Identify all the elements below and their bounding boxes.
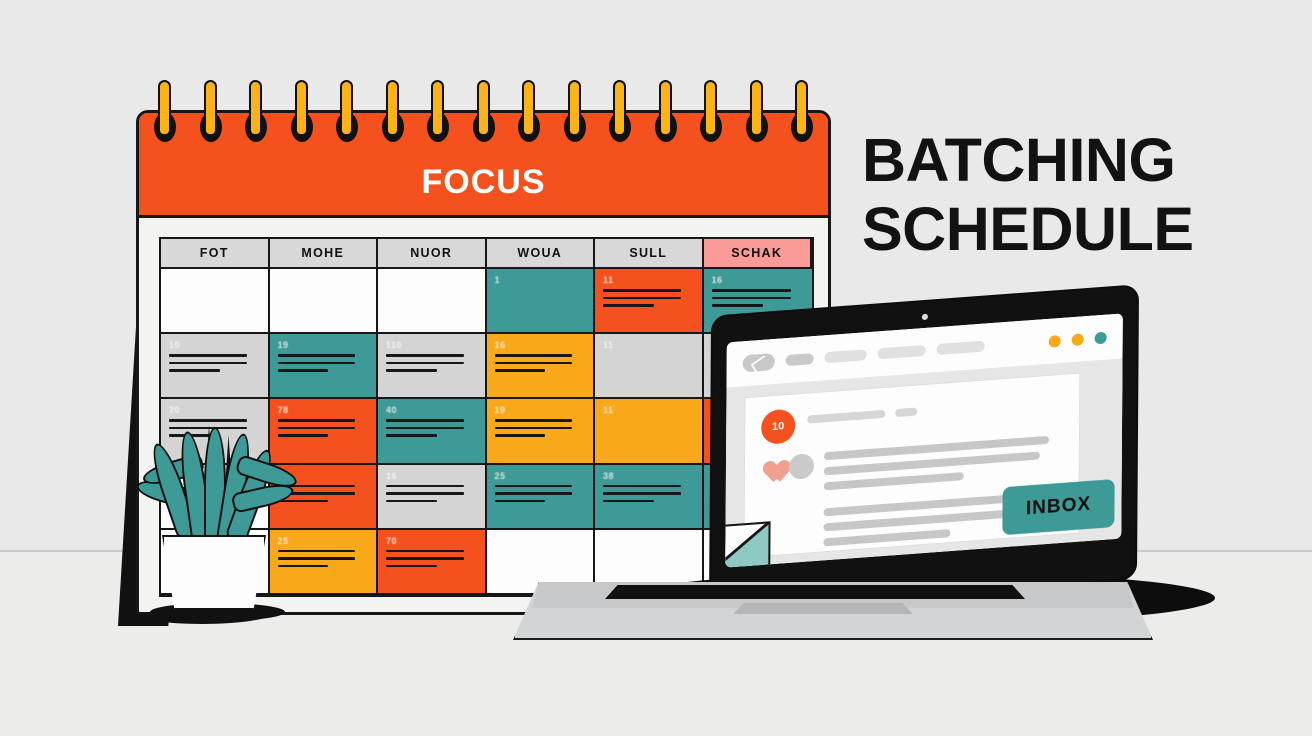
spiral-ring: [655, 80, 677, 142]
spiral-wire: [386, 80, 399, 136]
agave-plant: [140, 425, 300, 610]
toolbar-pill-3[interactable]: [878, 345, 926, 360]
screen-content: 10: [725, 313, 1123, 567]
spiral-ring: [564, 80, 586, 142]
calendar-entry-line: [386, 557, 464, 560]
calendar-day-number: [278, 275, 369, 285]
laptop-keyboard[interactable]: [605, 585, 1025, 599]
spiral-wire: [477, 80, 490, 136]
day-header-sull: SULL: [595, 239, 704, 269]
mail-row: [788, 554, 1050, 568]
calendar-entry-line: [386, 492, 464, 495]
mail-row: [807, 401, 1007, 424]
calendar-entry-line: [386, 485, 464, 488]
calendar-day-number: [386, 275, 477, 285]
toolbar-dot-2[interactable]: [1072, 333, 1084, 346]
spiral-ring: [200, 80, 222, 142]
spiral-ring: [518, 80, 540, 142]
inbox-badge[interactable]: INBOX: [1002, 479, 1114, 535]
spiral-ring: [700, 80, 722, 142]
mail-subject-line: [807, 410, 885, 424]
toolbar-pill-4[interactable]: [937, 341, 985, 356]
calendar-entry-line: [169, 419, 247, 422]
calendar-entry-line: [386, 362, 464, 365]
calendar-entry-line: [278, 362, 356, 365]
spiral-wire: [568, 80, 581, 136]
notification-badge[interactable]: 10: [761, 408, 795, 445]
calendar-entry-line: [386, 500, 437, 503]
spiral-wire: [795, 80, 808, 136]
calendar-entry-line: [712, 297, 792, 300]
calendar-entry-line: [603, 297, 681, 300]
calendar-day-number: 20: [169, 405, 260, 415]
title-line-1: BATCHING: [862, 126, 1282, 195]
calendar-entry-lines: [386, 485, 477, 503]
spiral-wire: [522, 80, 535, 136]
calendar-entry-line: [278, 419, 356, 422]
calendar-entry-line: [386, 550, 464, 553]
spiral-ring: [336, 80, 358, 142]
calendar-entry-line: [603, 289, 681, 292]
mail-line: [823, 562, 1041, 567]
calendar-day-number: 11: [603, 275, 694, 285]
calendar-entry-line: [278, 369, 329, 372]
calendar-day-number: 10: [169, 340, 260, 350]
calendar-entry-lines: [278, 354, 369, 372]
envelope-icon: [725, 521, 770, 567]
toolbar-dot-1[interactable]: [1049, 334, 1061, 347]
calendar-entry-line: [386, 565, 437, 568]
calendar-cell[interactable]: [378, 269, 487, 334]
calendar-cell[interactable]: 40: [378, 399, 487, 464]
mail-tag-line: [895, 407, 917, 417]
toolbar-pill-1[interactable]: [786, 353, 814, 366]
calendar-entry-line: [386, 369, 437, 372]
calendar-day-number: 16: [386, 471, 477, 481]
calendar-entry-lines: [386, 419, 477, 437]
calendar-entry-line: [386, 419, 464, 422]
calendar-day-number: 70: [386, 536, 477, 546]
calendar-day-number: 1: [495, 275, 586, 285]
title-line-2: SCHEDULE: [862, 195, 1282, 264]
calendar-cell[interactable]: 19: [270, 334, 379, 399]
calendar-cell[interactable]: 70: [378, 530, 487, 595]
calendar-day-number: 19: [278, 340, 369, 350]
spiral-wire: [704, 80, 717, 136]
calendar-entry-line: [169, 362, 247, 365]
day-header-schak: SCHAK: [704, 239, 813, 269]
spiral-ring: [382, 80, 404, 142]
calendar-entry-line: [169, 354, 247, 357]
page-title: BATCHING SCHEDULE: [862, 126, 1282, 264]
mail-row: [789, 436, 1049, 493]
spiral-wire: [613, 80, 626, 136]
mail-app-page: 10: [725, 359, 1122, 567]
heart-icon: [765, 457, 791, 483]
spiral-wire: [158, 80, 171, 136]
mail-line: [823, 529, 950, 546]
calendar-cell[interactable]: 10: [161, 334, 270, 399]
calendar-day-number: 40: [386, 405, 477, 415]
spiral-ring: [291, 80, 313, 142]
calendar-day-number: [169, 275, 260, 285]
calendar-day-number: 16: [712, 275, 805, 285]
day-header-nuor: NUOR: [378, 239, 487, 269]
illustration-canvas: BATCHING SCHEDULE FOCUS FOTMOHENUORWOUAS…: [0, 0, 1312, 736]
calendar-cell[interactable]: 16: [378, 465, 487, 530]
laptop-trackpad[interactable]: [733, 603, 913, 614]
calendar-entry-line: [712, 289, 792, 292]
calendar-entry-line: [169, 369, 220, 372]
calendar-cell[interactable]: 110: [378, 334, 487, 399]
toolbar-spacer: [996, 342, 1038, 345]
spiral-wire: [340, 80, 353, 136]
spiral-wire: [431, 80, 444, 136]
calendar-entry-line: [386, 354, 464, 357]
spiral-ring: [746, 80, 768, 142]
toolbar-pill-2[interactable]: [825, 349, 867, 363]
spiral-wire: [204, 80, 217, 136]
spiral-ring: [427, 80, 449, 142]
spiral-wire: [249, 80, 262, 136]
spiral-binding: [136, 72, 831, 142]
day-header-fot: FOT: [161, 239, 270, 269]
laptop-screen: 10: [725, 313, 1123, 567]
spiral-wire: [659, 80, 672, 136]
spiral-wire: [295, 80, 308, 136]
avatar: [789, 453, 814, 480]
spiral-ring: [791, 80, 813, 142]
spiral-ring: [473, 80, 495, 142]
calendar-entry-line: [278, 354, 356, 357]
calendar-entry-line: [386, 427, 464, 430]
calendar-entry-lines: [386, 354, 477, 372]
calendar-banner-title: FOCUS: [139, 163, 828, 202]
spiral-ring: [245, 80, 267, 142]
toolbar-dot-3[interactable]: [1095, 331, 1107, 344]
calendar-entry-line: [386, 434, 437, 437]
day-header-woua: WOUA: [487, 239, 596, 269]
webcam-icon: [922, 314, 928, 320]
spiral-ring: [154, 80, 176, 142]
plant-pot: [162, 535, 266, 610]
calendar-day-number: 78: [278, 405, 369, 415]
calendar-day-number: 110: [386, 340, 477, 350]
day-header-mohe: MOHE: [270, 239, 379, 269]
mail-line: [824, 472, 964, 490]
calendar-cell[interactable]: [270, 269, 379, 334]
laptop-lid: 10: [709, 284, 1139, 611]
mail-list-card: 10: [743, 373, 1080, 559]
calendar-cell[interactable]: [161, 269, 270, 334]
laptop: 10: [505, 300, 1165, 655]
spiral-ring: [609, 80, 631, 142]
back-arrow-icon[interactable]: [743, 353, 775, 372]
calendar-entry-lines: [386, 550, 477, 568]
spiral-wire: [750, 80, 763, 136]
calendar-entry-lines: [169, 354, 260, 372]
